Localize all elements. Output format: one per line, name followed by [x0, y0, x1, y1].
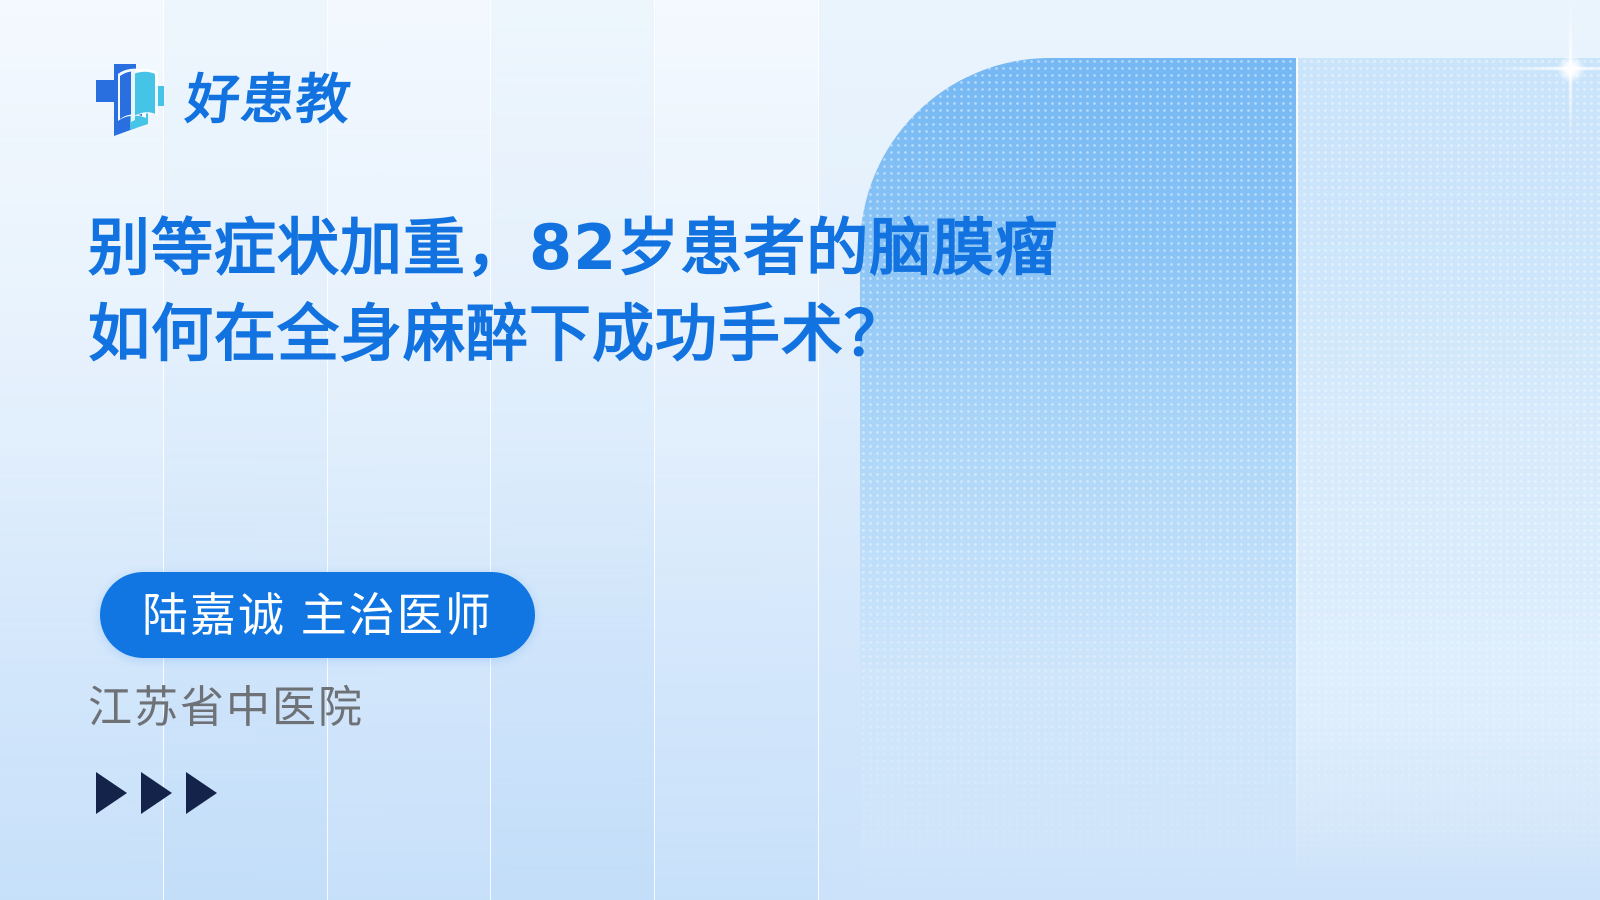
poster-canvas: 好患教 别等症状加重，82岁患者的脑膜瘤 如何在全身麻醉下成功手术？ 陆嘉诚 主… — [0, 0, 1600, 900]
medical-cross-book-icon — [90, 58, 172, 142]
brand-wordmark: 好患教 — [183, 73, 354, 127]
background-stripe — [328, 0, 491, 900]
doctor-badge: 陆嘉诚 主治医师 — [100, 572, 535, 658]
title-line-2: 如何在全身麻醉下成功手术？ — [88, 291, 1288, 377]
doctor-name-title: 陆嘉诚 主治医师 — [142, 592, 493, 638]
background-stripe — [491, 0, 655, 900]
play-triangle-icon — [96, 772, 127, 814]
panel-band-edge — [1296, 58, 1298, 888]
page-title: 别等症状加重，82岁患者的脑膜瘤 如何在全身麻醉下成功手术？ — [88, 205, 1288, 376]
blue-rounded-panel — [860, 58, 1600, 888]
play-triangle-icon — [141, 772, 172, 814]
play-triangle-icon — [186, 772, 217, 814]
title-line-1: 别等症状加重，82岁患者的脑膜瘤 — [88, 205, 1288, 291]
play-arrows — [96, 772, 217, 814]
hospital-name: 江苏省中医院 — [88, 682, 364, 735]
panel-light-band — [1296, 58, 1600, 888]
background-stripe — [655, 0, 819, 900]
brand-logo: 好患教 — [90, 58, 351, 142]
